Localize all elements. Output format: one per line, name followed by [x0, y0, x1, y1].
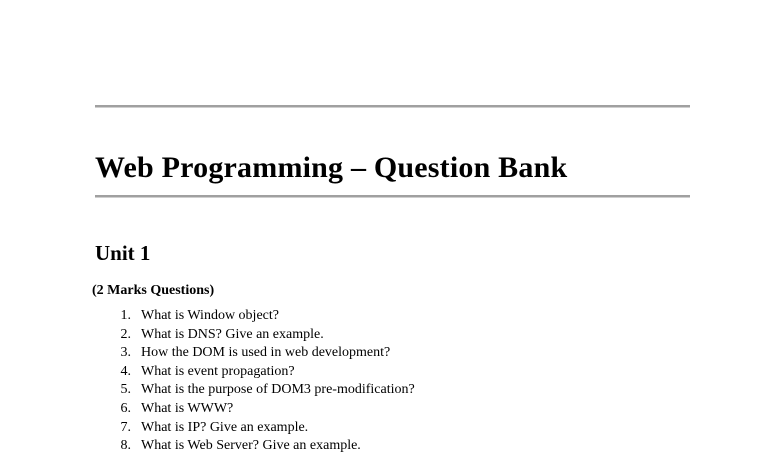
list-item: 4. What is event propagation? [95, 363, 695, 382]
list-item-number: 4. [95, 363, 131, 382]
question-list: 1. What is Window object? 2. What is DNS… [95, 307, 695, 456]
list-item-text: What is event propagation? [141, 363, 295, 382]
list-item-text: What is IP? Give an example. [141, 419, 308, 438]
list-item-number: 8. [95, 437, 131, 456]
list-item-text: What is DNS? Give an example. [141, 326, 324, 345]
page-title: Web Programming – Question Bank [95, 150, 567, 186]
list-item-text: What is WWW? [141, 400, 233, 419]
title-rule-top [95, 105, 690, 108]
title-rule-bottom [95, 195, 690, 198]
list-item: 8. What is Web Server? Give an example. [95, 437, 695, 456]
document-page: Web Programming – Question Bank Unit 1 (… [0, 0, 784, 441]
list-item: 6. What is WWW? [95, 400, 695, 419]
list-item: 3. How the DOM is used in web developmen… [95, 344, 695, 363]
list-item: 5. What is the purpose of DOM3 pre-modif… [95, 381, 695, 400]
list-item: 2. What is DNS? Give an example. [95, 326, 695, 345]
list-item: 1. What is Window object? [95, 307, 695, 326]
unit-heading: Unit 1 [95, 241, 150, 266]
list-item-text: What is the purpose of DOM3 pre-modifica… [141, 381, 415, 400]
list-item-text: What is Web Server? Give an example. [141, 437, 361, 456]
list-item-number: 3. [95, 344, 131, 363]
list-item-text: How the DOM is used in web development? [141, 344, 390, 363]
list-item-text: What is Window object? [141, 307, 279, 326]
list-item-number: 5. [95, 381, 131, 400]
list-item: 7. What is IP? Give an example. [95, 419, 695, 438]
list-item-number: 1. [95, 307, 131, 326]
list-item-number: 2. [95, 326, 131, 345]
list-item-number: 6. [95, 400, 131, 419]
marks-subheading: (2 Marks Questions) [92, 282, 214, 300]
list-item-number: 7. [95, 419, 131, 438]
